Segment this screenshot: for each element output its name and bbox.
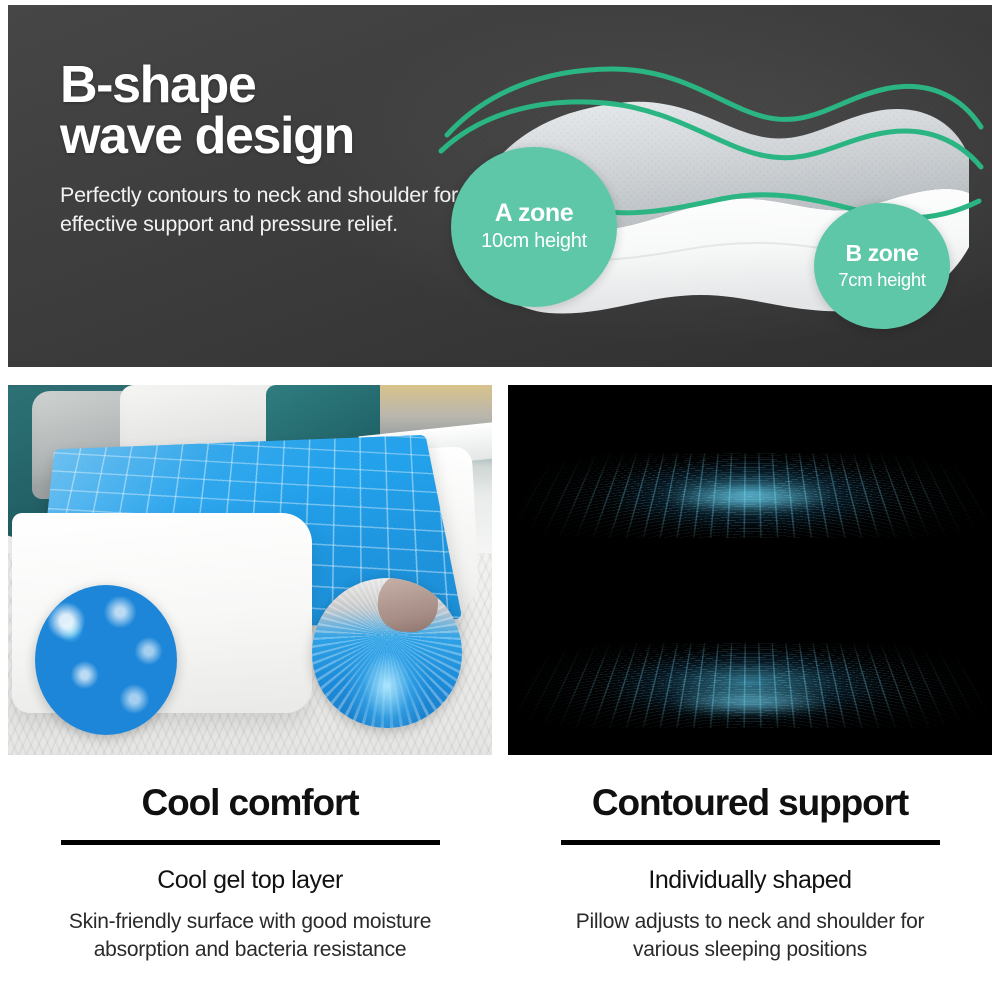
zone-badge-a: A zone 10cm height (451, 147, 617, 307)
product-infographic: B-shape wave design Perfectly contours t… (0, 0, 1000, 1000)
photo-gel-pillow (8, 385, 492, 755)
feature-divider (61, 840, 440, 845)
zone-b-name: B zone (846, 241, 919, 266)
mesh-glow-bottom (634, 685, 866, 719)
hero-title-line-2: wave design (60, 111, 460, 162)
zone-b-height: 7cm height (838, 268, 926, 291)
dark-mesh-scene (508, 385, 992, 755)
feature-title: Contoured support (592, 784, 908, 823)
feature-subtitle: Cool gel top layer (157, 866, 343, 895)
feature-cool-comfort: Cool comfort Cool gel top layer Skin-fri… (0, 768, 500, 1000)
hero-text-block: B-shape wave design Perfectly contours t… (60, 60, 460, 238)
feature-row: Cool comfort Cool gel top layer Skin-fri… (0, 768, 1000, 1000)
feature-description: Pillow adjusts to neck and shoulder for … (540, 908, 960, 963)
gel-finger-press-inset (312, 578, 462, 728)
gel-beads-inset (35, 585, 177, 735)
zone-badge-b: B zone 7cm height (814, 203, 950, 329)
feature-subtitle: Individually shaped (648, 866, 851, 895)
hero-subtitle: Perfectly contours to neck and shoulder … (60, 181, 460, 238)
mesh-glow-top (634, 481, 866, 515)
hero-title-line-1: B-shape (60, 56, 255, 114)
page-title: B-shape wave design (60, 60, 460, 162)
zone-a-height: 10cm height (481, 229, 587, 254)
finger-icon (376, 578, 439, 634)
zone-a-name: A zone (495, 200, 574, 228)
feature-title: Cool comfort (141, 784, 358, 823)
hero-panel: B-shape wave design Perfectly contours t… (8, 5, 992, 367)
feature-description: Skin-friendly surface with good moisture… (40, 908, 460, 963)
bedroom-scene (8, 385, 492, 755)
feature-contoured-support: Contoured support Individually shaped Pi… (500, 768, 1000, 1000)
feature-divider (561, 840, 940, 845)
photo-breathable-mesh (508, 385, 992, 755)
